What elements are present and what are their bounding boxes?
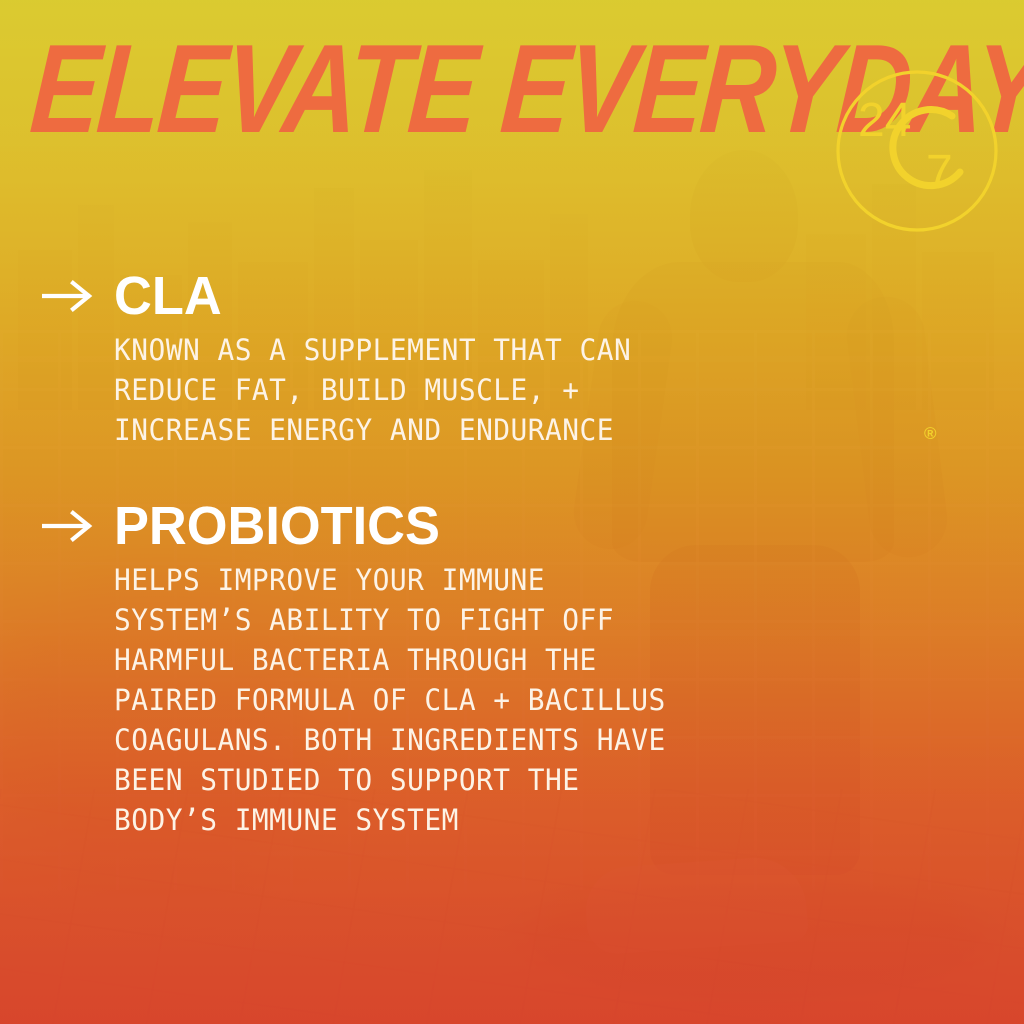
section-probiotics-body: HELPS IMPROVE YOUR IMMUNE SYSTEM’S ABILI… [114, 560, 666, 840]
badge-bottom-number: 7 [926, 146, 953, 199]
section-probiotics: PROBIOTICS HELPS IMPROVE YOUR IMMUNE SYS… [42, 498, 689, 840]
poster-canvas: ELEVATE EVERYDAY 24 7 CLA KNOWN AS A SUP… [0, 0, 1024, 1024]
section-cla-heading-row: CLA [42, 268, 653, 324]
section-probiotics-heading-row: PROBIOTICS [42, 498, 689, 554]
section-cla-body: KNOWN AS A SUPPLEMENT THAT CAN REDUCE FA… [114, 330, 631, 450]
arrow-right-icon [42, 278, 96, 314]
arrow-right-icon [42, 508, 96, 544]
badge-top-number: 24 [858, 94, 911, 147]
section-cla: CLA KNOWN AS A SUPPLEMENT THAT CAN REDUC… [42, 268, 653, 450]
registered-trademark-icon: ® [924, 424, 937, 444]
brand-logo-vertical: PERFORMIX [924, 406, 1016, 1006]
section-probiotics-title: PROBIOTICS [114, 498, 440, 554]
section-cla-title: CLA [114, 268, 222, 324]
badge-24-7: 24 7 [834, 68, 1000, 234]
